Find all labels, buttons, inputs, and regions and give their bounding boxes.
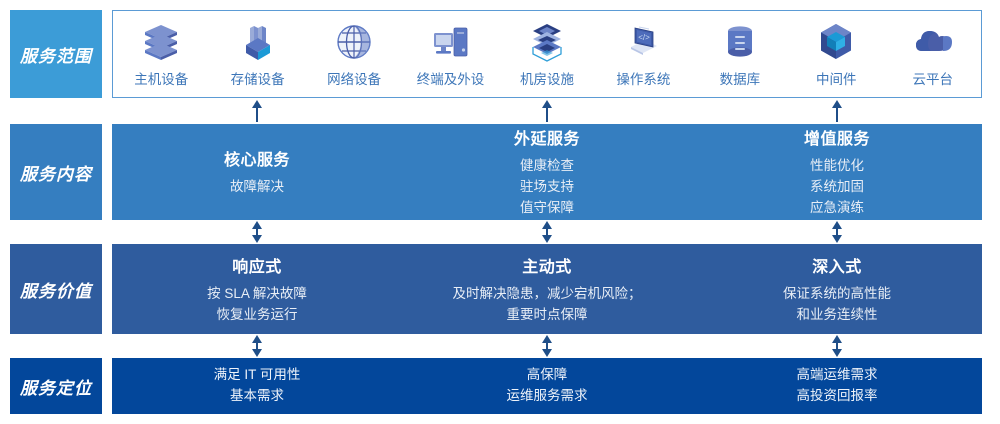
value-line: 按 SLA 解决故障 [207,284,307,305]
positioning-block-high-assurance[interactable]: 高保障 运维服务需求 [402,358,692,414]
scope-item-datacenter-facility[interactable]: 机房设施 [499,11,595,97]
operating-system-icon: </> [620,19,666,65]
content-block-title: 核心服务 [224,146,290,170]
content-line: 系统加固 [810,177,864,198]
scope-item-network-equipment[interactable]: 网络设备 [306,11,402,97]
connector-value-to-positioning [112,335,982,357]
network-globe-icon [331,19,377,65]
scope-item-terminals-peripherals[interactable]: 终端及外设 [402,11,498,97]
positioning-block-basic[interactable]: 满足 IT 可用性 基本需求 [112,358,402,414]
content-block-extended-service[interactable]: 外延服务 健康检查 驻场支持 值守保障 [402,124,692,220]
scope-item-host-equipment[interactable]: 主机设备 [113,11,209,97]
value-block-proactive[interactable]: 主动式 及时解决隐患，减少宕机风险； 重要时点保障 [402,244,692,334]
positioning-columns: 满足 IT 可用性 基本需求 高保障 运维服务需求 高端运维需求 高投资回报率 [112,358,982,414]
positioning-line: 高端运维需求 [797,365,878,386]
positioning-block-lines: 满足 IT 可用性 基本需求 [214,365,301,407]
cloud-platform-icon [910,19,956,65]
row-label-content: 服务内容 [10,124,102,220]
scope-item-cloud-platform[interactable]: 云平台 [885,11,981,97]
value-line: 重要时点保障 [453,305,642,326]
positioning-line: 高投资回报率 [797,386,878,407]
value-block-lines: 及时解决隐患，减少宕机风险； 重要时点保障 [453,284,642,326]
diagram-canvas: 服务范围 [0,0,1000,424]
value-line: 恢复业务运行 [207,305,307,326]
positioning-block-lines: 高端运维需求 高投资回报率 [797,365,878,407]
positioning-line: 运维服务需求 [507,386,588,407]
scope-item-label: 主机设备 [134,68,188,88]
scope-item-label: 数据库 [720,68,761,88]
value-columns: 响应式 按 SLA 解决故障 恢复业务运行 主动式 及时解决隐患，减少宕机风险；… [112,244,982,334]
content-block-value-added-service[interactable]: 增值服务 性能优化 系统加固 应急演练 [692,124,982,220]
connector-content-to-value [112,221,982,243]
row-label-positioning: 服务定位 [10,358,102,414]
content-line: 性能优化 [810,156,864,177]
connector-scope-to-content [112,100,982,122]
content-block-title: 增值服务 [804,125,870,149]
positioning-panel: 满足 IT 可用性 基本需求 高保障 运维服务需求 高端运维需求 高投资回报率 [112,358,982,414]
positioning-block-high-end[interactable]: 高端运维需求 高投资回报率 [692,358,982,414]
datacenter-facility-icon [524,19,570,65]
scope-item-label: 机房设施 [520,68,574,88]
row-label-scope-text: 服务范围 [20,42,92,67]
scope-item-label: 中间件 [816,68,857,88]
scope-item-label: 云平台 [912,68,953,88]
value-block-responsive[interactable]: 响应式 按 SLA 解决故障 恢复业务运行 [112,244,402,334]
desktop-pc-icon [428,19,474,65]
scope-item-label: 网络设备 [327,68,381,88]
scope-item-middleware[interactable]: 中间件 [788,11,884,97]
row-label-value-text: 服务价值 [20,277,92,302]
content-block-lines: 性能优化 系统加固 应急演练 [810,156,864,219]
content-block-lines: 健康检查 驻场支持 值守保障 [520,156,574,219]
value-line: 保证系统的高性能 [783,284,891,305]
database-icon [717,19,763,65]
value-line: 及时解决隐患，减少宕机风险； [453,284,642,305]
positioning-line: 高保障 [507,365,588,386]
middleware-cube-icon [813,19,859,65]
value-line: 和业务连续性 [783,305,891,326]
content-line: 驻场支持 [520,177,574,198]
row-label-scope: 服务范围 [10,10,102,98]
scope-item-label: 终端及外设 [417,68,485,88]
value-panel: 响应式 按 SLA 解决故障 恢复业务运行 主动式 及时解决隐患，减少宕机风险；… [112,244,982,334]
value-block-in-depth[interactable]: 深入式 保证系统的高性能 和业务连续性 [692,244,982,334]
content-line: 健康检查 [520,156,574,177]
value-block-title: 响应式 [232,253,282,277]
value-block-lines: 按 SLA 解决故障 恢复业务运行 [207,284,307,326]
positioning-line: 基本需求 [214,386,301,407]
content-columns: 核心服务 故障解决 外延服务 健康检查 驻场支持 值守保障 增值服务 性能优化 … [112,124,982,220]
row-label-content-text: 服务内容 [20,160,92,185]
scope-item-operating-system[interactable]: </> 操作系统 [595,11,691,97]
value-block-title: 深入式 [812,253,862,277]
row-label-value: 服务价值 [10,244,102,334]
scope-panel: 主机设备 [112,10,982,98]
scope-item-label: 操作系统 [616,68,670,88]
content-block-core-service[interactable]: 核心服务 故障解决 [112,124,402,220]
content-line: 故障解决 [230,177,284,198]
value-block-title: 主动式 [522,253,572,277]
scope-item-label: 存储设备 [231,68,285,88]
server-stack-icon [138,19,184,65]
content-block-lines: 故障解决 [230,177,284,198]
content-block-title: 外延服务 [514,125,580,149]
scope-item-database[interactable]: 数据库 [692,11,788,97]
value-block-lines: 保证系统的高性能 和业务连续性 [783,284,891,326]
content-line: 应急演练 [810,198,864,219]
content-panel: 核心服务 故障解决 外延服务 健康检查 驻场支持 值守保障 增值服务 性能优化 … [112,124,982,220]
svg-text:</>: </> [639,33,651,42]
row-label-positioning-text: 服务定位 [20,374,92,399]
positioning-line: 满足 IT 可用性 [214,365,301,386]
scope-columns: 主机设备 [113,11,981,97]
scope-item-storage-equipment[interactable]: 存储设备 [209,11,305,97]
content-line: 值守保障 [520,198,574,219]
storage-array-icon [235,19,281,65]
positioning-block-lines: 高保障 运维服务需求 [507,365,588,407]
